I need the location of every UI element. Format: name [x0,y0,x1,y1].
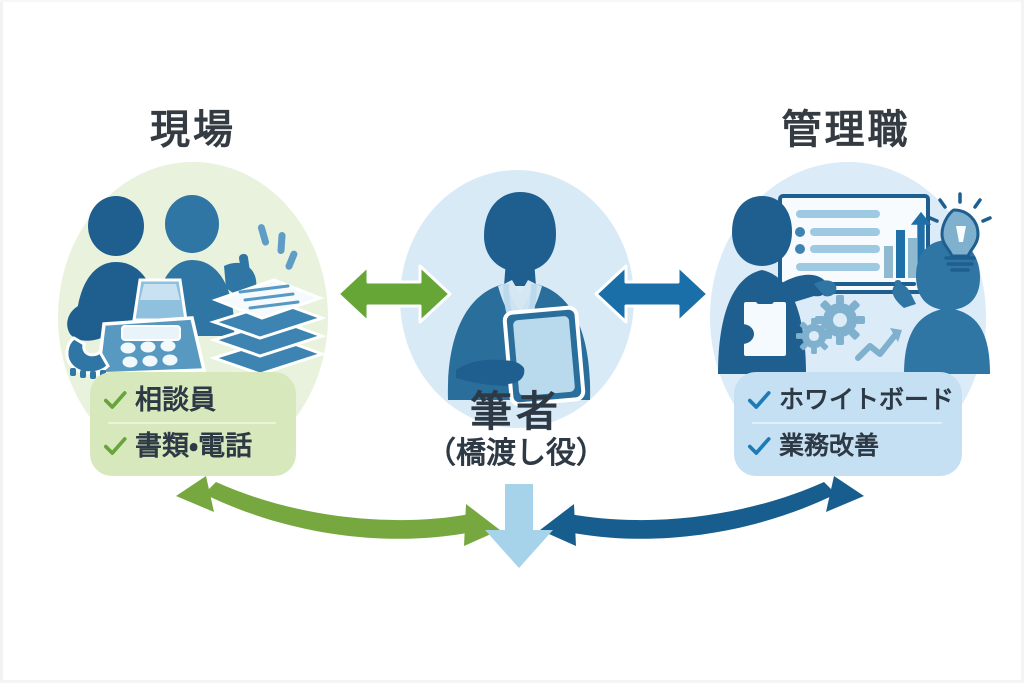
frontline-illustration [64,188,326,378]
left-feature-label-0: 相談員 [135,387,216,414]
panel-left-title: 現場 [48,110,338,150]
check-icon [746,387,772,413]
panel-right-management: 管理職 [696,100,996,490]
speech-burst-icon [257,223,298,270]
green-curved-double-arrow [170,470,500,580]
growth-arrow-icon [858,334,896,358]
right-feature-label-1: 業務改善 [779,434,879,459]
green-double-arrow [334,258,454,330]
left-feature-pill: 相談員 書類・電話 [90,372,296,476]
page-edge-top [0,0,1024,2]
light-blue-down-arrow [483,484,555,568]
center-title-main: 筆者 [356,390,676,434]
blue-curved-double-arrow [540,470,870,580]
center-caption: 筆者 （橋渡し役） [356,390,676,470]
check-icon [102,433,128,459]
author-illustration [432,188,604,404]
right-feature-pill: ホワイトボード 業務改善 [734,372,962,476]
left-feature-item-0: 相談員 [102,378,282,422]
right-feature-item-0: ホワイトボード [746,378,948,422]
page-edge-left [0,0,3,683]
panel-left-genba: 現場 [48,100,338,490]
right-feature-label-0: ホワイトボード [779,388,954,413]
right-feature-item-1: 業務改善 [746,424,948,468]
diagram-canvas: 現場 [0,0,1024,683]
blue-double-arrow [592,258,712,330]
panel-right-title: 管理職 [696,110,996,150]
check-icon [102,387,128,413]
left-feature-label-1: 書類・電話 [135,433,252,460]
management-illustration [718,188,990,378]
check-icon [746,433,772,459]
gears-icon [796,295,865,354]
document-stack-icon [214,280,322,374]
folder-icon [134,280,186,320]
left-feature-item-1: 書類・電話 [102,424,282,468]
center-title-sub: （橋渡し役） [356,438,676,470]
green-arrowhead-left [176,476,214,512]
blue-arrowhead-right [826,476,864,512]
